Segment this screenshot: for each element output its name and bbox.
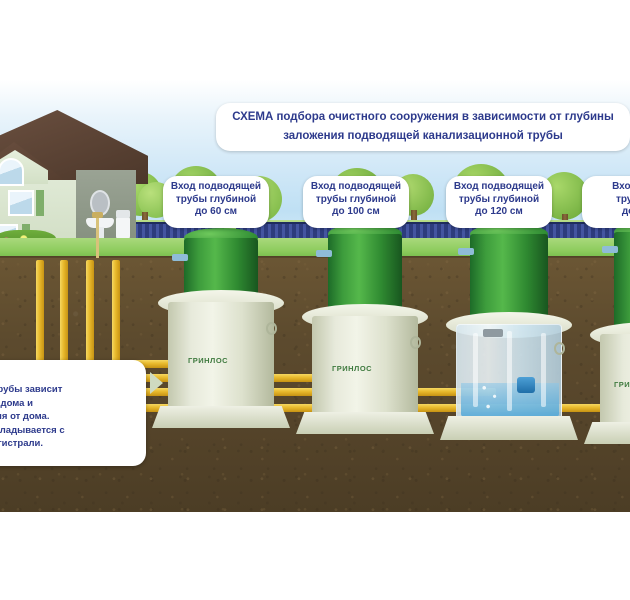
callout-depth-60: Вход подводящей трубы глубиной до 60 см: [163, 176, 269, 228]
tank-handle-3: [554, 342, 565, 355]
internal-baffle: [541, 333, 546, 407]
pipe-run-3: [86, 388, 496, 396]
callout-line-2: трубы глубиной: [303, 194, 409, 207]
tank-cutaway-3: [456, 324, 562, 422]
callout-line-2: трубы глубиной: [163, 194, 269, 207]
info-box-line-2: гистрали из дома и: [0, 397, 136, 411]
shutter: [36, 190, 44, 216]
riser-inlet-1: [172, 254, 188, 261]
utility-pole: [96, 216, 99, 258]
callout-line-1: Вход подводящей: [303, 181, 409, 194]
toilet-tank: [116, 210, 130, 218]
callout-depth-120: Вход подводящей трубы глубиной до 120 см: [446, 176, 552, 228]
callout-line-1: Вход подводящей: [163, 181, 269, 194]
internal-baffle: [473, 333, 478, 407]
title-banner: СХЕМА подбора очистного сооружения в зав…: [216, 103, 630, 151]
title-line-1: СХЕМА подбора очистного сооружения в зав…: [232, 108, 614, 127]
window-upper: [0, 158, 24, 186]
info-box-line-3: о сооружения от дома.: [0, 410, 136, 424]
callout-line-2: трубы глубиной: [446, 194, 552, 207]
info-box-line-4: страль прокладывается с: [0, 424, 136, 438]
pipe-drop-1: [36, 260, 44, 368]
callout-line-3: до 100 см: [303, 206, 409, 219]
callout-line-3: до 60 см: [163, 206, 269, 219]
pump-icon: [517, 377, 535, 393]
callout-line-1: Вход под: [582, 181, 630, 194]
callout-line-3: до 14: [582, 206, 630, 219]
treatment-unit-2: ГРИНЛОС: [302, 224, 428, 370]
aeration-bubbles: [479, 381, 505, 415]
riser-inlet-4: [602, 246, 618, 253]
title-line-2: заложения подводящей канализационной тру…: [283, 127, 563, 146]
callout-depth-100: Вход подводящей трубы глубиной до 100 см: [303, 176, 409, 228]
callout-line-3: до 120 см: [446, 206, 552, 219]
tank-handle-2: [410, 336, 421, 349]
info-box-line-5: огонный магистрали.: [0, 437, 136, 451]
tank-foundation-1: [152, 406, 290, 428]
callout-line-2: трубы г: [582, 194, 630, 207]
treatment-unit-4: ГРИ: [590, 222, 630, 382]
info-box-pointer-icon: [150, 372, 163, 394]
tank-handle-1: [266, 322, 277, 335]
riser-inlet-2: [316, 250, 332, 257]
info-box: ГРИНЛОС дводящей трубы зависит гистрали …: [0, 360, 146, 466]
riser-2: [328, 234, 402, 314]
brand-logo-4: ГРИ: [614, 380, 630, 389]
poster-canvas: ГРИНЛОС ГРИНЛОС: [0, 0, 630, 600]
window-right: [8, 190, 34, 216]
utility-pole-cap: [92, 212, 103, 218]
control-plate: [483, 329, 503, 337]
callout-depth-140: Вход под трубы г до 14: [582, 176, 630, 228]
info-box-heading: ГРИНЛОС: [0, 367, 136, 379]
brand-logo-2: ГРИНЛОС: [332, 364, 372, 373]
treatment-unit-1: ГРИНЛОС: [158, 228, 284, 366]
riser-3: [470, 234, 548, 320]
treatment-unit-3: [446, 224, 572, 380]
tank-foundation-2: [296, 412, 434, 434]
riser-inlet-3: [458, 248, 474, 255]
info-box-line-1: дводящей трубы зависит: [0, 383, 136, 397]
callout-line-1: Вход подводящей: [446, 181, 552, 194]
tank-foundation-3: [440, 416, 578, 440]
brand-logo-1: ГРИНЛОС: [188, 356, 228, 365]
internal-baffle: [507, 331, 512, 411]
